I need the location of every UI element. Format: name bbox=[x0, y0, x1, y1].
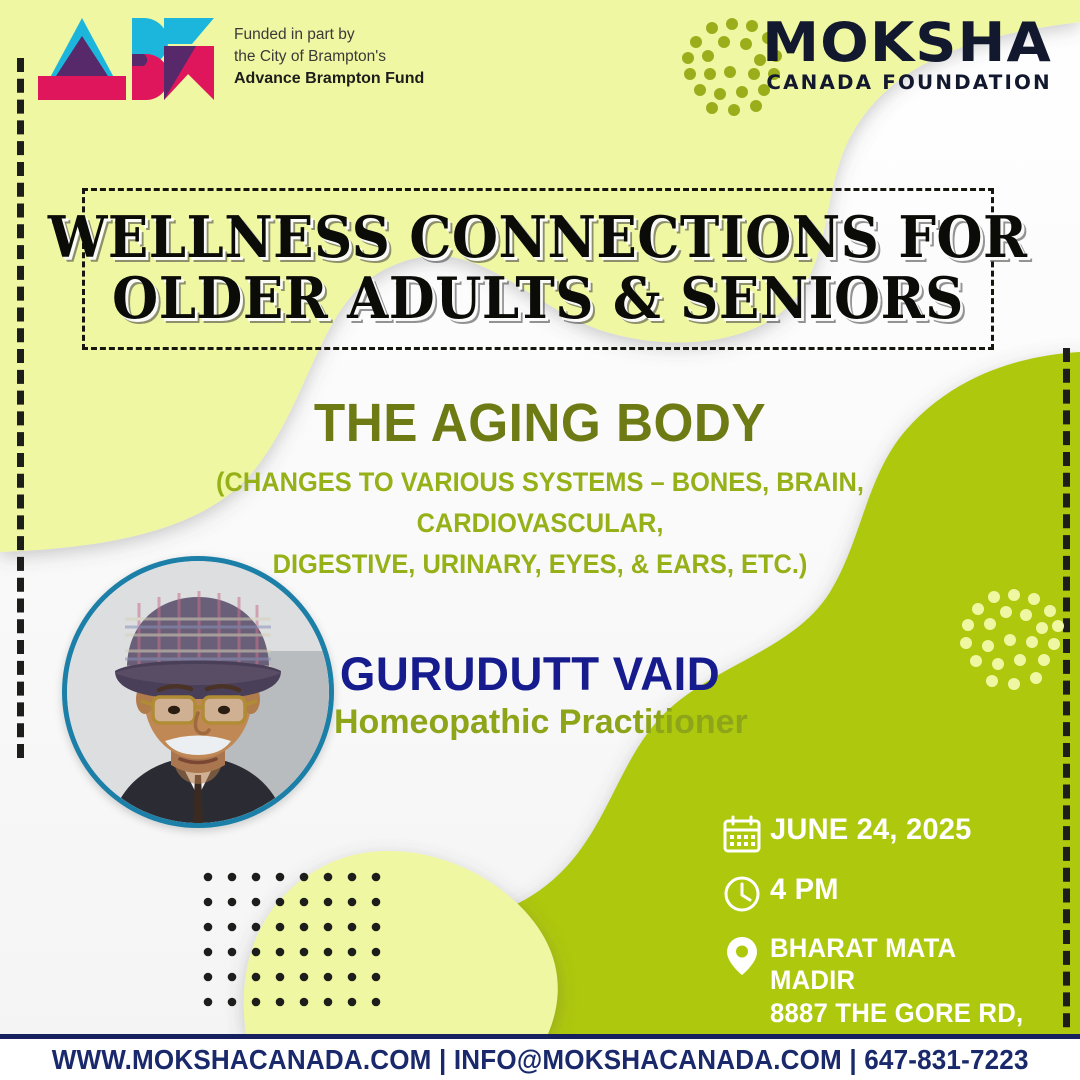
abf-logo bbox=[36, 16, 216, 104]
moksha-tagline: CANADA FOUNDATION bbox=[767, 71, 1052, 94]
right-dashed-rule bbox=[1063, 348, 1070, 1048]
funder-line-2: the City of Brampton's bbox=[234, 46, 424, 68]
topic-heading: THE AGING BODY bbox=[27, 392, 1053, 454]
event-venue: BHARAT MATA MADIR bbox=[770, 932, 1044, 997]
moksha-wordmark: MOKSHA bbox=[755, 18, 1052, 68]
speaker-name: GURUDUTT VAID bbox=[340, 646, 720, 701]
speaker-portrait bbox=[62, 556, 334, 828]
title-line-1: WELLNESS CONNECTIONS FOR bbox=[48, 209, 1028, 268]
event-time-row: 4 PM bbox=[722, 872, 1052, 914]
footer-bar: WWW.MOKSHACANADA.COM | INFO@MOKSHACANADA… bbox=[0, 1039, 1080, 1080]
title-line-2: OLDER ADULTS & SENIORS bbox=[112, 270, 964, 329]
event-street: 8887 THE GORE RD, bbox=[770, 997, 1044, 1029]
funder-line-3: Advance Brampton Fund bbox=[234, 68, 424, 91]
organization-logo-block: MOKSHA CANADA FOUNDATION bbox=[772, 18, 1052, 94]
footer-contact: WWW.MOKSHACANADA.COM | INFO@MOKSHACANADA… bbox=[52, 1044, 1029, 1076]
dot-grid-icon bbox=[203, 872, 381, 1008]
event-poster: Funded in part by the City of Brampton's… bbox=[0, 0, 1080, 1080]
speaker-role: Homeopathic Practitioner bbox=[334, 703, 748, 742]
event-date: JUNE 24, 2025 bbox=[770, 812, 972, 847]
topic-note-line-1: (CHANGES TO VARIOUS SYSTEMS – BONES, BRA… bbox=[108, 462, 972, 544]
poster-title-box: WELLNESS CONNECTIONS FOR OLDER ADULTS & … bbox=[82, 188, 994, 350]
event-time: 4 PM bbox=[770, 872, 839, 907]
funder-text: Funded in part by the City of Brampton's… bbox=[234, 16, 424, 91]
funder-line-1: Funded in part by bbox=[234, 24, 424, 46]
funder-logo-block: Funded in part by the City of Brampton's… bbox=[36, 16, 424, 104]
location-pin-icon bbox=[722, 932, 770, 978]
calendar-icon bbox=[722, 812, 770, 854]
event-date-row: JUNE 24, 2025 bbox=[722, 812, 1052, 854]
dot-swirl-right-icon bbox=[956, 588, 1066, 694]
clock-icon bbox=[722, 872, 770, 914]
left-dashed-rule bbox=[17, 58, 24, 758]
